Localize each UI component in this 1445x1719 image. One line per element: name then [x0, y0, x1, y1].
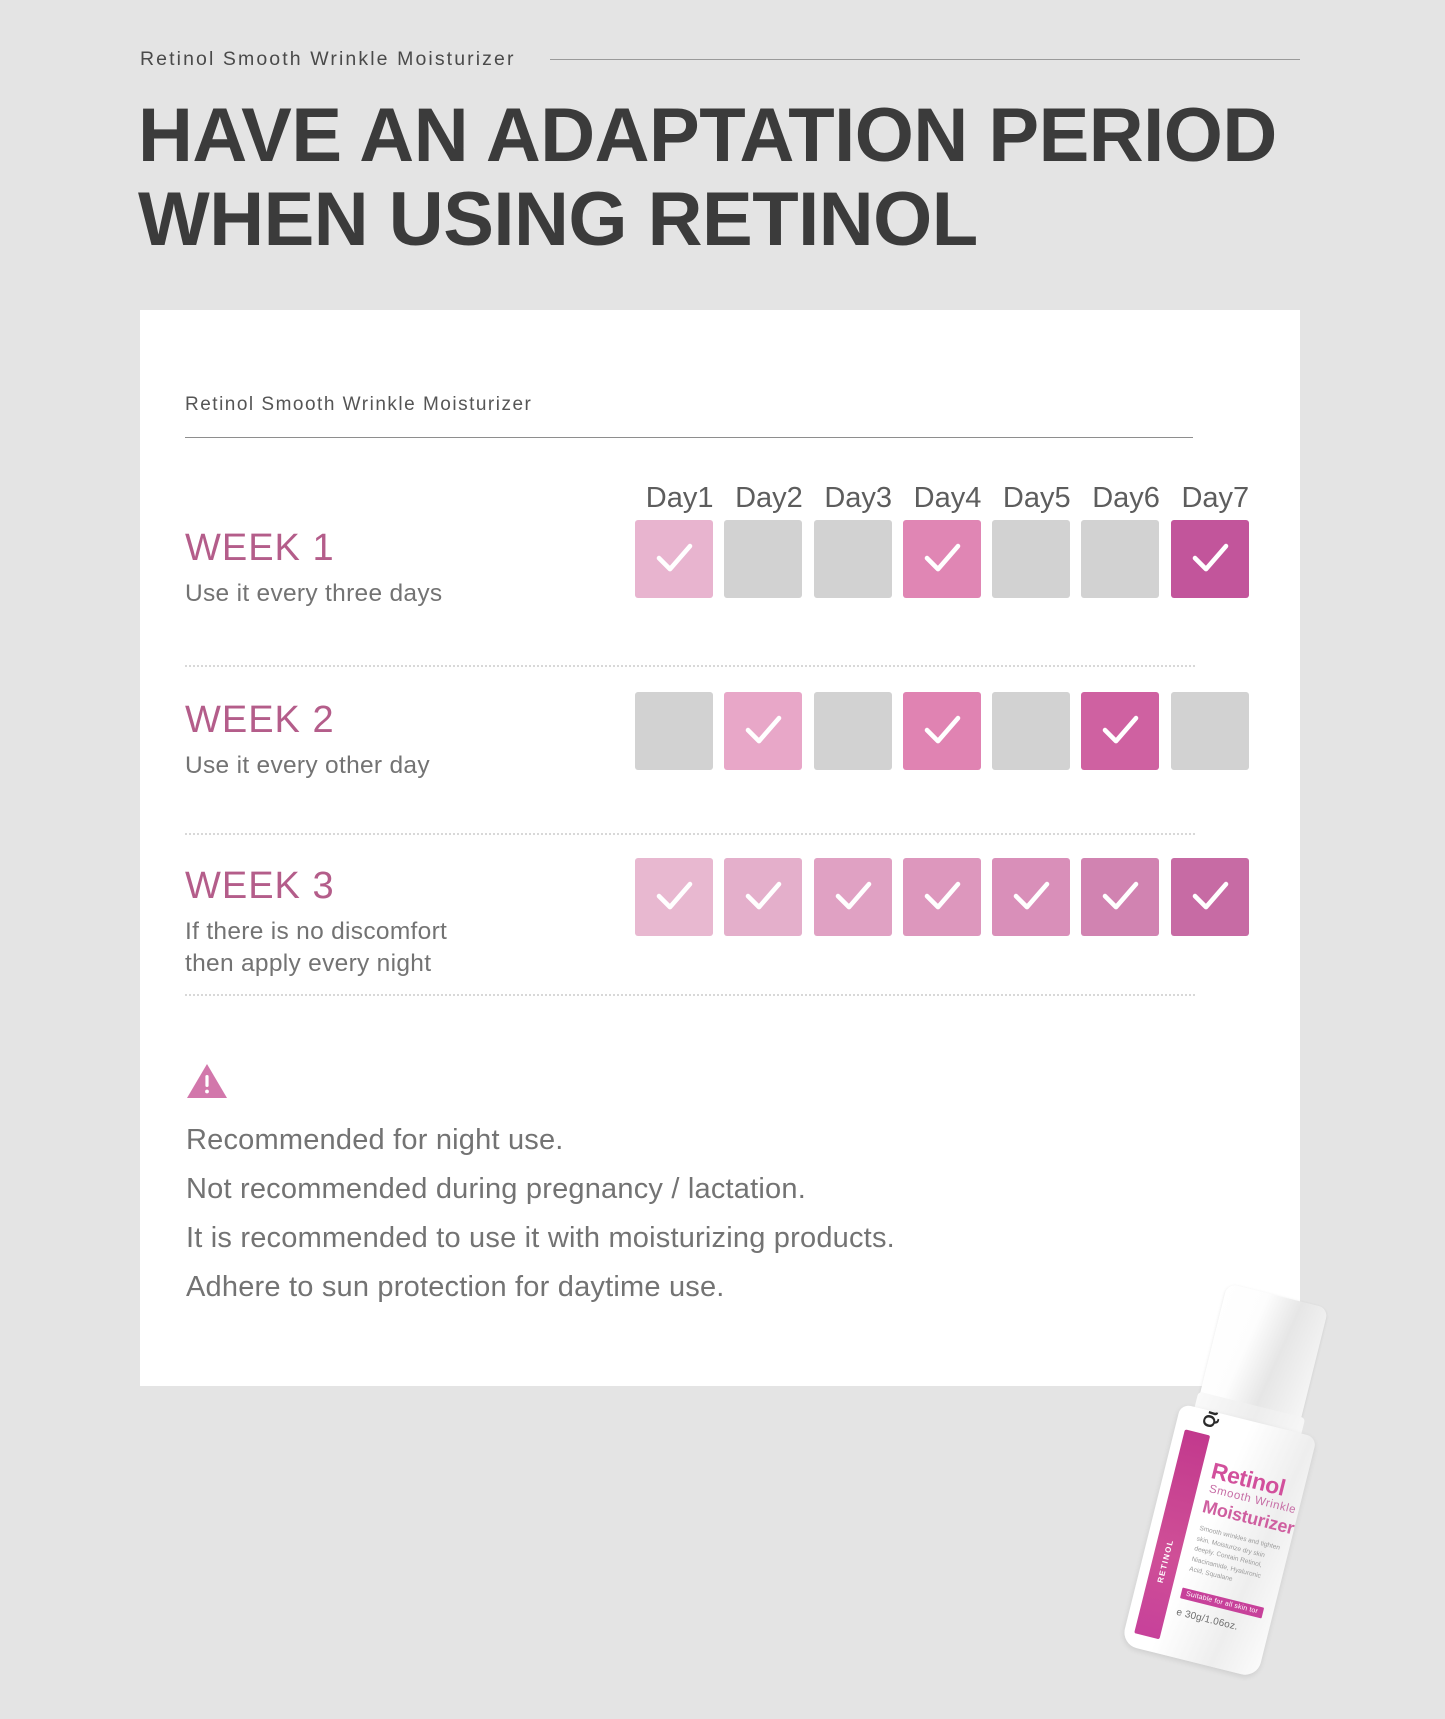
day-checkbox-w1-d3[interactable]	[814, 520, 892, 598]
check-mark-icon	[1097, 873, 1143, 919]
note-line-1: Recommended for night use.	[186, 1116, 1066, 1165]
row-divider-1	[185, 665, 1195, 667]
day-checkbox-w3-d3[interactable]	[814, 858, 892, 936]
week-3-subtitle: If there is no discomfort then apply eve…	[185, 916, 615, 980]
check-mark-icon	[919, 535, 965, 581]
row-divider-2	[185, 833, 1195, 835]
day-checkbox-w3-d2[interactable]	[724, 858, 802, 936]
schedule-card: Retinol Smooth Wrinkle Moisturizer Day1 …	[140, 310, 1300, 1386]
card-title-divider	[185, 437, 1193, 438]
warning-triangle-icon	[186, 1062, 228, 1100]
day-header-row: Day1 Day2 Day3 Day4 Day5 Day6 Day7	[635, 482, 1260, 515]
check-mark-icon	[651, 873, 697, 919]
check-mark-icon	[1187, 873, 1233, 919]
headline-line-2: WHEN USING RETINOL	[138, 178, 1358, 262]
day-checkbox-w3-d7[interactable]	[1171, 858, 1249, 936]
day-checkbox-w3-d6[interactable]	[1081, 858, 1159, 936]
check-mark-icon	[1187, 535, 1233, 581]
day-checkbox-w2-d4[interactable]	[903, 692, 981, 770]
note-line-4: Adhere to sun protection for daytime use…	[186, 1263, 1066, 1312]
week-row-3: WEEK 3 If there is no discomfort then ap…	[185, 858, 1260, 1008]
day-header-3: Day3	[814, 482, 903, 515]
day-checkbox-w1-d2[interactable]	[724, 520, 802, 598]
day-checkbox-w3-d4[interactable]	[903, 858, 981, 936]
day-header-1: Day1	[635, 482, 724, 515]
day-checkbox-w1-d5[interactable]	[992, 520, 1070, 598]
check-mark-icon	[651, 535, 697, 581]
day-checkbox-w3-d5[interactable]	[992, 858, 1070, 936]
check-mark-icon	[740, 707, 786, 753]
day-checkbox-w3-d1[interactable]	[635, 858, 713, 936]
check-mark-icon	[1097, 707, 1143, 753]
week-3-checkbox-row	[635, 858, 1249, 936]
eyebrow-row: Retinol Smooth Wrinkle Moisturizer	[140, 44, 1300, 74]
bottle-description: Smooth wrinkles and tighten skin. Moistu…	[1188, 1524, 1284, 1596]
day-header-7: Day7	[1171, 482, 1260, 515]
day-checkbox-w1-d6[interactable]	[1081, 520, 1159, 598]
day-checkbox-w2-d3[interactable]	[814, 692, 892, 770]
day-checkbox-w2-d7[interactable]	[1171, 692, 1249, 770]
eyebrow-label: Retinol Smooth Wrinkle Moisturizer	[140, 48, 516, 71]
headline-line-1: HAVE AN ADAPTATION PERIOD	[138, 94, 1358, 178]
check-mark-icon	[919, 707, 965, 753]
notes-list: Recommended for night use. Not recommend…	[186, 1116, 1066, 1312]
check-mark-icon	[919, 873, 965, 919]
check-mark-icon	[1008, 873, 1054, 919]
row-divider-3	[185, 994, 1195, 996]
day-checkbox-w1-d1[interactable]	[635, 520, 713, 598]
product-bottle-image: RETINOL Quiyix Retinol Smooth Wrinkle Mo…	[1080, 1271, 1419, 1719]
check-mark-icon	[830, 873, 876, 919]
day-checkbox-w2-d1[interactable]	[635, 692, 713, 770]
week-2-subtitle: Use it every other day	[185, 750, 615, 782]
day-checkbox-w2-d5[interactable]	[992, 692, 1070, 770]
week-1-checkbox-row	[635, 520, 1249, 598]
week-3-title: WEEK 3	[185, 864, 615, 908]
day-header-2: Day2	[724, 482, 813, 515]
note-line-3: It is recommended to use it with moistur…	[186, 1214, 1066, 1263]
day-header-5: Day5	[992, 482, 1081, 515]
day-checkbox-w2-d6[interactable]	[1081, 692, 1159, 770]
check-mark-icon	[740, 873, 786, 919]
week-row-1: WEEK 1 Use it every three days	[185, 520, 1260, 670]
week-2-label-group: WEEK 2 Use it every other day	[185, 698, 615, 782]
bottle-stripe-text: RETINOL	[1153, 1526, 1179, 1596]
eyebrow-divider	[550, 59, 1300, 60]
card-title: Retinol Smooth Wrinkle Moisturizer	[185, 394, 532, 416]
week-3-subtitle-line-1: If there is no discomfort	[185, 916, 615, 948]
note-line-2: Not recommended during pregnancy / lacta…	[186, 1165, 1066, 1214]
bottle-net-weight: e 30g/1.06oz.	[1175, 1607, 1239, 1633]
week-2-checkbox-row	[635, 692, 1249, 770]
day-checkbox-w1-d4[interactable]	[903, 520, 981, 598]
week-1-subtitle: Use it every three days	[185, 578, 615, 610]
week-2-title: WEEK 2	[185, 698, 615, 742]
week-row-2: WEEK 2 Use it every other day	[185, 692, 1260, 842]
day-header-4: Day4	[903, 482, 992, 515]
week-1-label-group: WEEK 1 Use it every three days	[185, 526, 615, 610]
day-checkbox-w1-d7[interactable]	[1171, 520, 1249, 598]
week-3-subtitle-line-2: then apply every night	[185, 948, 615, 980]
week-3-label-group: WEEK 3 If there is no discomfort then ap…	[185, 864, 615, 980]
day-header-6: Day6	[1081, 482, 1170, 515]
page-title: HAVE AN ADAPTATION PERIOD WHEN USING RET…	[138, 94, 1358, 262]
day-checkbox-w2-d2[interactable]	[724, 692, 802, 770]
week-1-title: WEEK 1	[185, 526, 615, 570]
